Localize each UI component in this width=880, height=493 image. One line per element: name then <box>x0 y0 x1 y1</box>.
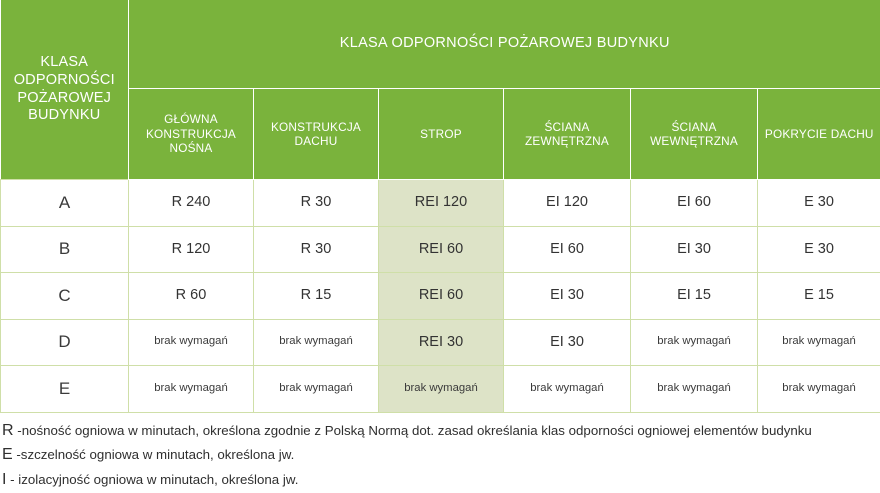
footnote-key-e: E <box>2 446 13 463</box>
header-main-load-bearing-structure: GŁÓWNA KONSTRUKCJA NOŚNA <box>129 89 254 180</box>
header-internal-wall: ŚCIANA WEWNĘTRZNA <box>631 89 758 180</box>
header-group-fire-resistance-class: KLASA ODPORNOŚCI POŻAROWEJ BUDYNKU <box>129 0 880 89</box>
header-roof-covering: POKRYCIE DACHU <box>758 89 880 180</box>
cell-internal-wall: brak wymagań <box>631 366 758 413</box>
footnotes: R -nośność ogniowa w minutach, określona… <box>0 419 880 493</box>
cell-building-class: D <box>1 319 129 366</box>
header-row-sub: GŁÓWNA KONSTRUKCJA NOŚNA KONSTRUKCJA DAC… <box>1 89 880 180</box>
header-row-top: KLASA ODPORNOŚCI POŻAROWEJ BUDYNKU KLASA… <box>1 0 880 89</box>
footnote-text-r: -nośność ogniowa w minutach, określona z… <box>17 423 812 438</box>
cell-floor: brak wymagań <box>379 366 504 413</box>
footnote-r: R -nośność ogniowa w minutach, określona… <box>2 419 880 444</box>
cell-external-wall: brak wymagań <box>504 366 631 413</box>
table-head: KLASA ODPORNOŚCI POŻAROWEJ BUDYNKU KLASA… <box>1 0 880 180</box>
cell-internal-wall: EI 30 <box>631 226 758 273</box>
footnote-i: I - izolacyjność ogniowa w minutach, okr… <box>2 468 880 493</box>
cell-roof-covering: brak wymagań <box>758 319 880 366</box>
cell-building-class: E <box>1 366 129 413</box>
cell-internal-wall: EI 15 <box>631 273 758 320</box>
cell-main-structure: R 240 <box>129 180 254 227</box>
cell-external-wall: EI 60 <box>504 226 631 273</box>
footnote-text-e: -szczelność ogniowa w minutach, określon… <box>16 447 294 462</box>
footnote-key-r: R <box>2 422 14 439</box>
cell-building-class: B <box>1 226 129 273</box>
cell-floor: REI 30 <box>379 319 504 366</box>
cell-floor: REI 60 <box>379 273 504 320</box>
cell-roof-structure: brak wymagań <box>254 319 379 366</box>
footnote-key-i: I <box>2 471 6 488</box>
table-body: A R 240 R 30 REI 120 EI 120 EI 60 E 30 B… <box>1 180 880 413</box>
cell-internal-wall: brak wymagań <box>631 319 758 366</box>
cell-roof-structure: R 15 <box>254 273 379 320</box>
cell-building-class: C <box>1 273 129 320</box>
cell-main-structure: brak wymagań <box>129 319 254 366</box>
cell-external-wall: EI 120 <box>504 180 631 227</box>
cell-external-wall: EI 30 <box>504 319 631 366</box>
cell-roof-structure: R 30 <box>254 226 379 273</box>
cell-roof-covering: brak wymagań <box>758 366 880 413</box>
cell-main-structure: R 60 <box>129 273 254 320</box>
cell-roof-covering: E 30 <box>758 226 880 273</box>
table-row: E brak wymagań brak wymagań brak wymagań… <box>1 366 880 413</box>
table-row: B R 120 R 30 REI 60 EI 60 EI 30 E 30 <box>1 226 880 273</box>
cell-building-class: A <box>1 180 129 227</box>
fire-resistance-class-table-page: KLASA ODPORNOŚCI POŻAROWEJ BUDYNKU KLASA… <box>0 0 880 443</box>
fire-resistance-table: KLASA ODPORNOŚCI POŻAROWEJ BUDYNKU KLASA… <box>0 0 880 413</box>
cell-floor: REI 120 <box>379 180 504 227</box>
cell-roof-covering: E 15 <box>758 273 880 320</box>
cell-floor: REI 60 <box>379 226 504 273</box>
cell-external-wall: EI 30 <box>504 273 631 320</box>
cell-main-structure: brak wymagań <box>129 366 254 413</box>
table-row: D brak wymagań brak wymagań REI 30 EI 30… <box>1 319 880 366</box>
header-floor: STROP <box>379 89 504 180</box>
header-class-of-building: KLASA ODPORNOŚCI POŻAROWEJ BUDYNKU <box>1 0 129 180</box>
table-row: A R 240 R 30 REI 120 EI 120 EI 60 E 30 <box>1 180 880 227</box>
header-external-wall: ŚCIANA ZEWNĘTRZNA <box>504 89 631 180</box>
footnote-e: E -szczelność ogniowa w minutach, określ… <box>2 443 880 468</box>
cell-roof-structure: R 30 <box>254 180 379 227</box>
table-row: C R 60 R 15 REI 60 EI 30 EI 15 E 15 <box>1 273 880 320</box>
header-roof-structure: KONSTRUKCJA DACHU <box>254 89 379 180</box>
footnote-text-i: - izolacyjność ogniowa w minutach, okreś… <box>10 472 298 487</box>
cell-internal-wall: EI 60 <box>631 180 758 227</box>
cell-roof-structure: brak wymagań <box>254 366 379 413</box>
cell-roof-covering: E 30 <box>758 180 880 227</box>
cell-main-structure: R 120 <box>129 226 254 273</box>
